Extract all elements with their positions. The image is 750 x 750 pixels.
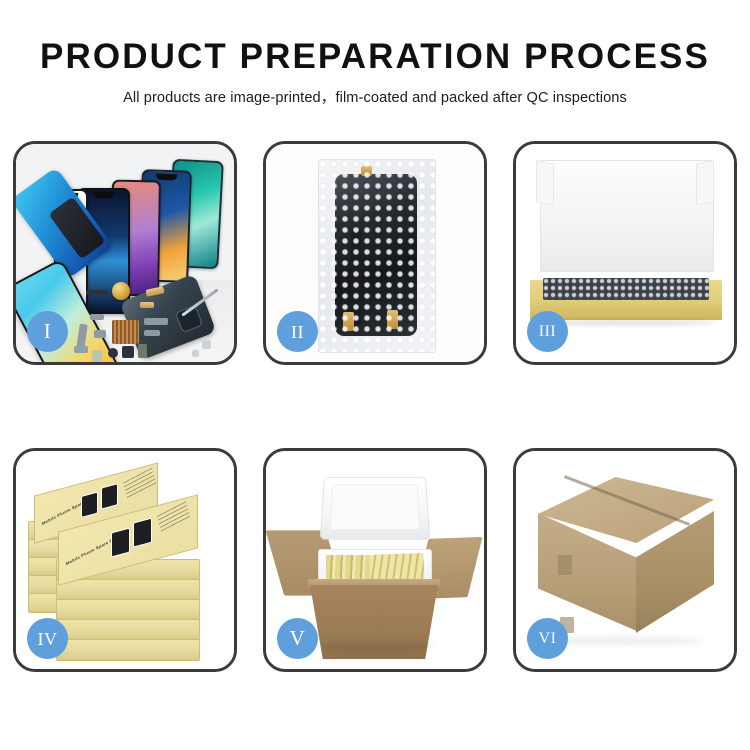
phone-notch-icon bbox=[92, 192, 115, 198]
spare-part bbox=[86, 290, 108, 295]
spare-part bbox=[144, 330, 160, 336]
box-product-thumbnail bbox=[101, 483, 118, 510]
foam-lid-inner-panel bbox=[330, 484, 421, 530]
process-step-panel-6[interactable]: VI bbox=[513, 448, 737, 672]
spare-part bbox=[138, 344, 147, 358]
spare-part bbox=[202, 340, 211, 349]
step-badge-4: IV bbox=[27, 618, 68, 659]
step-badge-1: I bbox=[27, 311, 68, 352]
box-product-thumbnail bbox=[81, 491, 98, 518]
box-spec-lines bbox=[123, 468, 157, 501]
lcd-flex-cable bbox=[351, 230, 361, 325]
carton-tape-patch bbox=[558, 555, 572, 575]
spare-part bbox=[144, 318, 168, 325]
drop-shadow bbox=[318, 643, 434, 651]
process-step-panel-2[interactable]: II bbox=[263, 141, 487, 365]
foam-cooler-lid bbox=[320, 477, 431, 540]
step-badge-3: III bbox=[527, 311, 568, 352]
spare-part bbox=[122, 346, 134, 358]
bubble-wrap-sleeve bbox=[318, 159, 436, 353]
box-product-thumbnail bbox=[111, 527, 130, 557]
logic-board-chip-part bbox=[112, 320, 139, 344]
spare-part bbox=[140, 302, 154, 308]
spare-part bbox=[74, 346, 88, 353]
page-subtitle: All products are image-printed，film-coat… bbox=[0, 75, 750, 107]
spare-part bbox=[108, 348, 118, 358]
bubble-wrapped-contents bbox=[543, 278, 709, 300]
process-step-panel-4[interactable]: Mobile Phone Spare Parts Mobile Phone Sp… bbox=[13, 448, 237, 672]
phone-notch-icon bbox=[156, 174, 177, 181]
speaker-coil-part bbox=[112, 282, 130, 300]
retail-box bbox=[56, 619, 200, 641]
box-lid-flap-left bbox=[536, 160, 554, 205]
process-step-panel-1[interactable]: I bbox=[13, 141, 237, 365]
spare-part bbox=[90, 314, 104, 320]
box-product-thumbnail bbox=[133, 518, 152, 548]
retail-box bbox=[56, 599, 200, 621]
page-title: PRODUCT PREPARATION PROCESS bbox=[0, 0, 750, 75]
box-white-lid bbox=[540, 160, 714, 272]
step-badge-5: V bbox=[277, 618, 318, 659]
connector-tab bbox=[387, 310, 398, 329]
connector-tab bbox=[361, 166, 372, 176]
retail-box bbox=[56, 639, 200, 661]
connector-tab bbox=[343, 312, 354, 331]
spare-part bbox=[94, 330, 106, 338]
header: PRODUCT PREPARATION PROCESS All products… bbox=[0, 0, 750, 107]
step-badge-6: VI bbox=[527, 618, 568, 659]
spare-part bbox=[192, 350, 199, 357]
box-lid-flap-right bbox=[696, 160, 714, 205]
process-step-grid: I II III bbox=[13, 141, 737, 677]
box-spec-lines bbox=[157, 501, 191, 534]
step-badge-2: II bbox=[277, 311, 318, 352]
process-step-panel-3[interactable]: III bbox=[513, 141, 737, 365]
retail-box bbox=[56, 579, 200, 601]
spare-part bbox=[92, 350, 102, 362]
process-step-panel-5[interactable]: V bbox=[263, 448, 487, 672]
drop-shadow bbox=[546, 637, 706, 645]
